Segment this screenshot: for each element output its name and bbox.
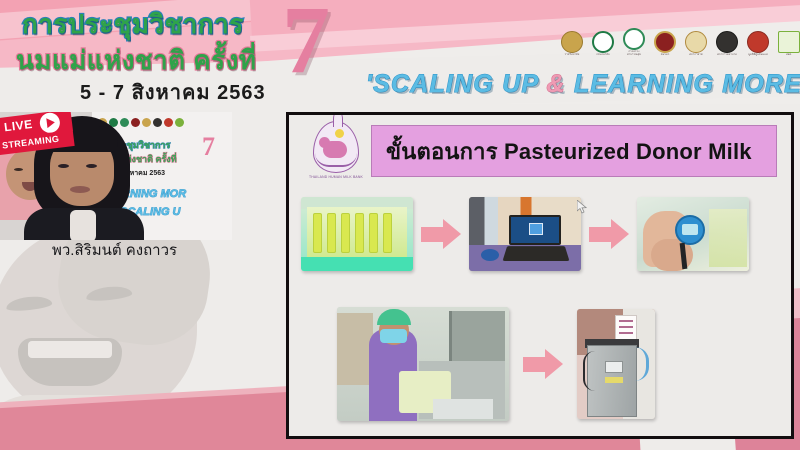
tagline-prefix: 'SCALING UP [366, 70, 547, 98]
organization-logo: ชมรมฯ [653, 31, 677, 57]
machine-sign [615, 315, 637, 341]
tagline-suffix: LEARNING MORE' [566, 70, 800, 98]
organization-logo: สภากาชาด [684, 31, 708, 57]
conference-tagline: 'SCALING UP & LEARNING MORE' [366, 70, 800, 99]
conference-title-line2: นมแม่แห่งชาติ ครั้งที่ [16, 40, 316, 81]
process-row-bottom [337, 307, 767, 421]
organization-logo: สสส. [777, 31, 800, 57]
organization-logos: ราชวิทยาลัย กรมอนามัย กระทรวงสาธารณสุข ช… [560, 28, 800, 57]
laptop-data-entry-photo [469, 197, 581, 271]
organization-logo: ราชวิทยาลัย [560, 31, 584, 57]
organization-logo: กรมอนามัย [591, 31, 615, 57]
milk-bottle-racks-photo [301, 197, 413, 271]
slide-title-text: ขั้นตอนการ Pasteurized Donor Milk [372, 134, 752, 169]
conference-title-line1: การประชุมวิชาการ [22, 4, 302, 45]
slide-content-panel: THAILAND HUMAN MILK BANK ขั้นตอนการ Past… [286, 112, 794, 439]
human-milk-bank-droplet-icon: THAILAND HUMAN MILK BANK [305, 119, 367, 187]
thermometer-check-photo [637, 197, 749, 271]
organization-logo: สภาการพยาบาล [715, 31, 739, 57]
live-video-player[interactable]: การประชุมวิชาการ นมแม่แห่งชาติ ครั้งที่ … [0, 112, 232, 240]
slide-screenshot: การประชุมวิชาการ นมแม่แห่งชาติ ครั้งที่ … [0, 0, 800, 450]
play-icon [39, 112, 61, 134]
nurse-bottle-loading-photo [337, 307, 509, 421]
process-row-top [301, 197, 785, 271]
milk-bank-logo-caption: THAILAND HUMAN MILK BANK [305, 175, 367, 179]
process-arrow-icon [421, 219, 461, 249]
tagline-ampersand: & [547, 70, 566, 98]
speaker-name: พว.สิริมนต์ คงถาวร [52, 238, 177, 262]
pasteurizer-machine-photo [577, 309, 655, 419]
conference-header: การประชุมวิชาการ นมแม่แห่งชาติ ครั้งที่ … [0, 0, 800, 104]
mouse-cursor [577, 200, 587, 214]
process-arrow-icon [523, 349, 563, 379]
conference-date: 5 - 7 สิงหาคม 2563 [80, 76, 266, 104]
video-slide-number: 7 [202, 134, 215, 160]
slide-title-banner: ขั้นตอนการ Pasteurized Donor Milk [371, 125, 777, 177]
process-arrow-icon [589, 219, 629, 249]
organization-logo: กระทรวงสาธารณสุข [622, 28, 646, 57]
live-label: LIVE [3, 117, 33, 134]
edition-number: 7 [282, 0, 330, 88]
organization-logo: มูลนิธิศูนย์นมแม่ [746, 31, 770, 57]
